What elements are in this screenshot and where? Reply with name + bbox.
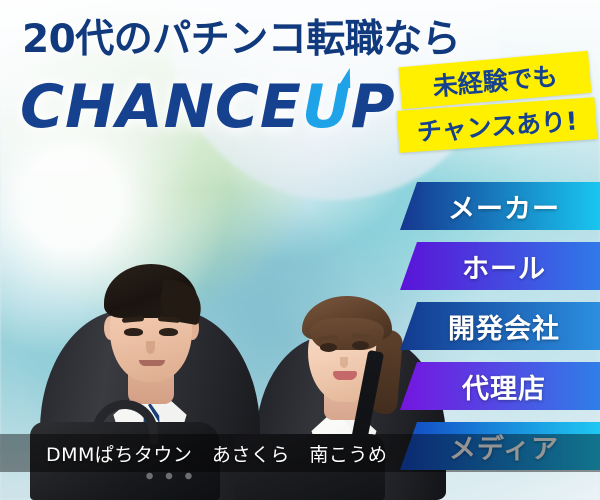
category-banner-hall[interactable]: ホール bbox=[400, 242, 600, 290]
woman-nose bbox=[340, 357, 348, 368]
woman-mouth bbox=[333, 371, 357, 380]
woman-eye-right bbox=[352, 341, 369, 350]
chance-up-logo: CHANCEUP bbox=[20, 72, 440, 144]
category-banner-agency[interactable]: 代理店 bbox=[400, 362, 600, 410]
category-label-agency: 代理店 bbox=[400, 367, 600, 406]
man-mouth bbox=[139, 360, 165, 366]
logo-word-chance: CHANCE bbox=[20, 72, 302, 142]
category-label-development: 開発会社 bbox=[400, 307, 600, 346]
caption-strip: DMMぱちタウン あさくら 南こうめ bbox=[0, 434, 600, 472]
category-label-hall: ホール bbox=[400, 247, 600, 286]
advertisement-banner[interactable]: 20代のパチンコ転職なら CHANCEUP 未経験でも チャンスあり! メーカー… bbox=[0, 0, 600, 500]
caption-text: DMMぱちタウン あさくら 南こうめ bbox=[0, 440, 387, 467]
man-eye-left bbox=[124, 328, 143, 336]
headline: 20代のパチンコ転職なら bbox=[22, 18, 452, 62]
man-nose bbox=[146, 341, 155, 354]
headline-line-1: 20代のパチンコ転職なら bbox=[22, 18, 452, 62]
category-label-maker: メーカー bbox=[400, 187, 600, 226]
category-banner-maker[interactable]: メーカー bbox=[400, 182, 600, 230]
logo-letter-u: U bbox=[302, 72, 351, 142]
category-banner-development[interactable]: 開発会社 bbox=[400, 302, 600, 350]
yellow-badge: 未経験でも チャンスあり! bbox=[398, 56, 598, 156]
man-eye-right bbox=[159, 328, 178, 336]
woman-eye-left bbox=[320, 343, 337, 352]
logo-letter-p: P bbox=[351, 72, 395, 142]
